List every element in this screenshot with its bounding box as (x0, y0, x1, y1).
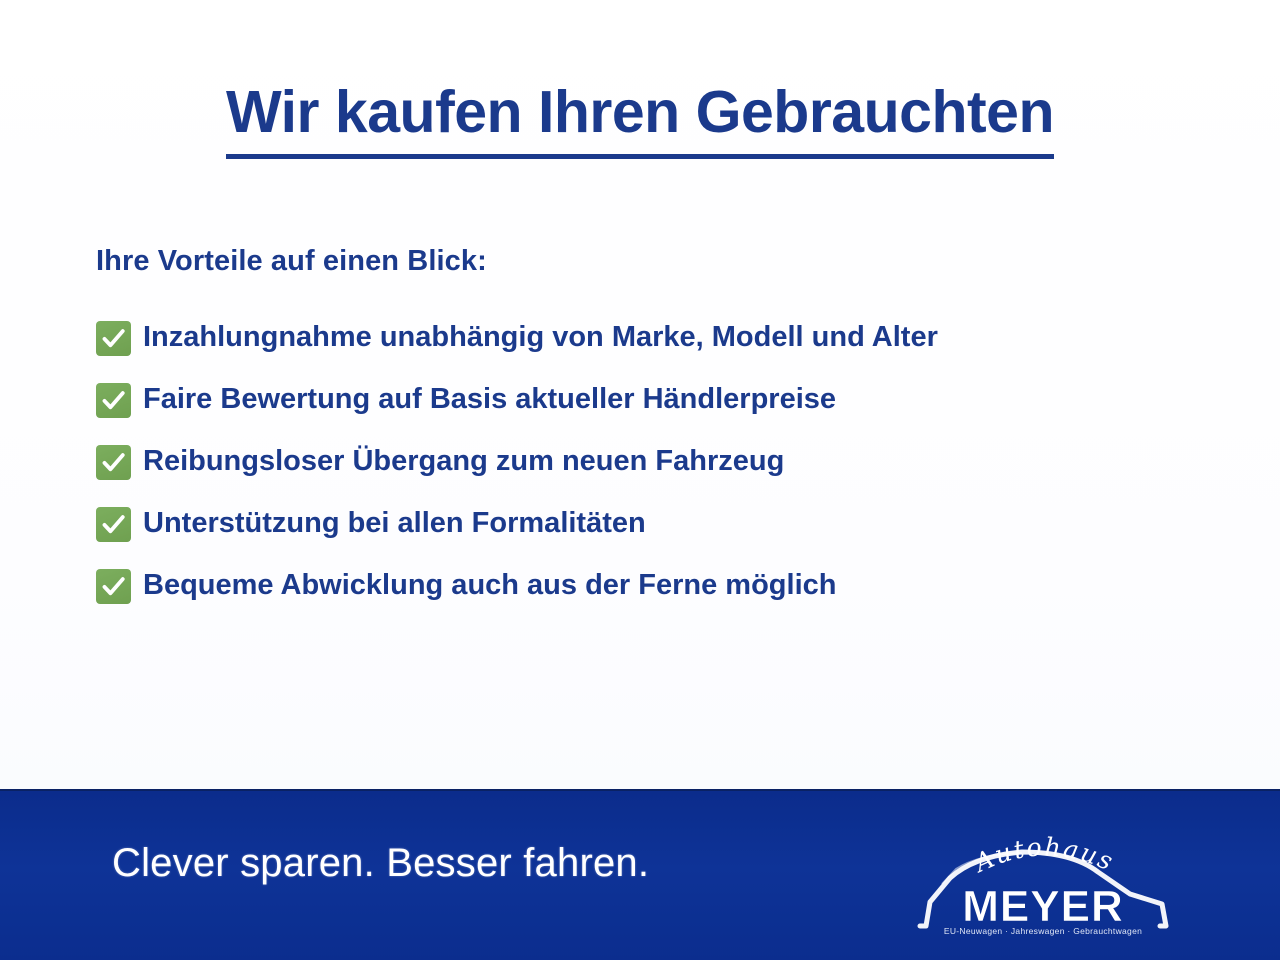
logo-script-textpath: Autohaus (968, 832, 1119, 878)
logo-script-text: Autohaus (968, 832, 1119, 878)
benefit-label: Inzahlungnahme unabhängig von Marke, Mod… (143, 322, 938, 354)
list-item: Reibungsloser Übergang zum neuen Fahrzeu… (96, 431, 1226, 493)
dealer-logo: Autohaus MEYER EU-Neuwagen · Jahreswagen… (912, 822, 1174, 940)
logo-wordmark: MEYER (962, 882, 1123, 931)
logo-tagline: EU-Neuwagen · Jahreswagen · Gebrauchtwag… (944, 926, 1142, 936)
green-check-icon (96, 507, 131, 542)
page-title: Wir kaufen Ihren Gebrauchten (226, 82, 1054, 159)
footer-slogan: Clever sparen. Besser fahren. (112, 841, 649, 886)
benefits-list: Inzahlungnahme unabhängig von Marke, Mod… (96, 307, 1226, 617)
list-item: Unterstützung bei allen Formalitäten (96, 493, 1226, 555)
benefit-label: Unterstützung bei allen Formalitäten (143, 508, 646, 540)
green-check-icon (96, 569, 131, 604)
green-check-icon (96, 445, 131, 480)
green-check-icon (96, 321, 131, 356)
benefit-label: Reibungsloser Übergang zum neuen Fahrzeu… (143, 446, 784, 478)
headline-container: Wir kaufen Ihren Gebrauchten (0, 82, 1280, 159)
benefit-label: Faire Bewertung auf Basis aktueller Händ… (143, 384, 836, 416)
benefits-subheading: Ihre Vorteile auf einen Blick: (96, 245, 487, 278)
list-item: Inzahlungnahme unabhängig von Marke, Mod… (96, 307, 1226, 369)
benefit-label: Bequeme Abwicklung auch aus der Ferne mö… (143, 570, 836, 602)
list-item: Bequeme Abwicklung auch aus der Ferne mö… (96, 555, 1226, 617)
promo-slide: Wir kaufen Ihren Gebrauchten Ihre Vortei… (0, 0, 1280, 960)
green-check-icon (96, 383, 131, 418)
list-item: Faire Bewertung auf Basis aktueller Händ… (96, 369, 1226, 431)
